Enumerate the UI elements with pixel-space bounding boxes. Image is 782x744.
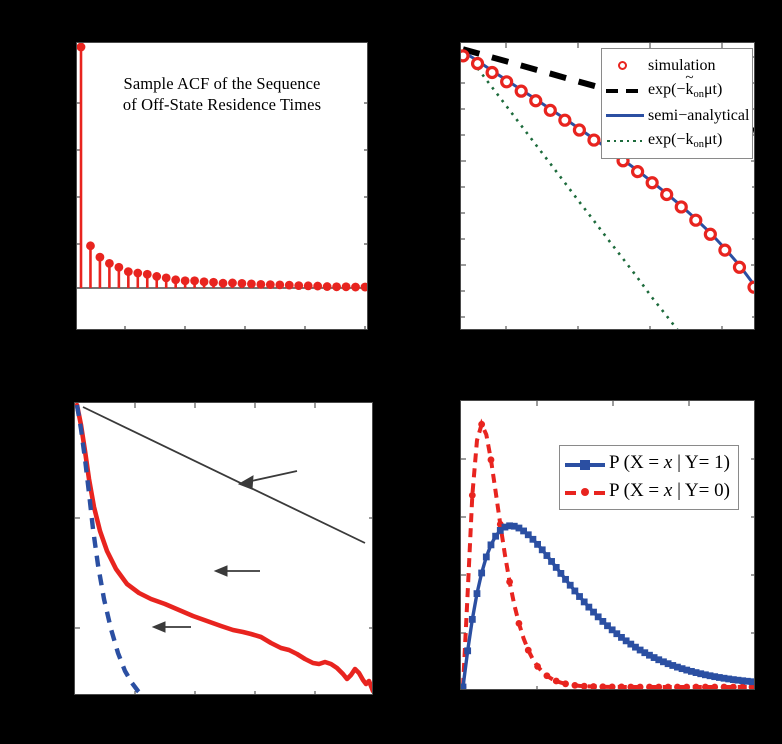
legend-label-simulation: simulation <box>648 57 716 75</box>
legend-item-simulation[interactable]: simulation <box>605 53 749 78</box>
panel-pmf: P (X = x | Y= 1) P (X = x | Y= 0) <box>460 400 755 690</box>
legend-label-exp-kon: exp(−konμt) <box>648 131 722 150</box>
acf-title-line2: of Off-State Residence Times <box>77 94 367 115</box>
survival-curve-heavy-tail <box>77 405 373 691</box>
arrow-to-straight-line <box>239 471 297 489</box>
survival-reference-line <box>83 407 365 543</box>
panel-decay: simulation exp(−~konμt) semi−analytical <box>460 42 755 330</box>
panel-acf: Sample ACF of the Sequence of Off-State … <box>76 42 368 330</box>
legend-label-pmf-y0: P (X = x | Y= 0) <box>609 480 730 502</box>
survival-plot-svg <box>75 403 373 695</box>
legend-label-pmf-y1: P (X = x | Y= 1) <box>609 452 730 474</box>
legend-item-exp-ktilde-on[interactable]: exp(−~konμt) <box>605 78 749 103</box>
legend-label-semi-analytical: semi−analytical <box>648 107 749 125</box>
pmf-markers-y1 <box>460 522 755 690</box>
legend-item-semi-analytical[interactable]: semi−analytical <box>605 103 749 128</box>
red-dot-dash-line-icon <box>564 481 606 501</box>
dashed-line-icon <box>605 81 645 101</box>
arrow-to-blue-dashed-curve <box>153 622 191 632</box>
legend-pmf: P (X = x | Y= 1) P (X = x | Y= 0) <box>559 445 739 510</box>
acf-title-line1: Sample ACF of the Sequence <box>77 73 367 94</box>
pmf-curve-y1 <box>463 526 752 687</box>
figure-canvas: Sample ACF of the Sequence of Off-State … <box>0 0 782 744</box>
open-circle-marker-icon <box>605 56 645 76</box>
dotted-line-icon <box>605 131 645 151</box>
blue-square-line-icon <box>564 453 606 473</box>
legend-item-exp-kon[interactable]: exp(−konμt) <box>605 128 749 153</box>
arrow-to-red-curve <box>215 566 260 576</box>
panel-survival <box>74 402 373 695</box>
legend-item-pmf-y0[interactable]: P (X = x | Y= 0) <box>564 477 734 505</box>
legend-label-exp-ktilde-on: exp(−~konμt) <box>648 81 722 100</box>
legend-decay: simulation exp(−~konμt) semi−analytical <box>601 48 753 159</box>
acf-title: Sample ACF of the Sequence of Off-State … <box>77 73 367 115</box>
acf-ticks <box>77 103 368 330</box>
legend-item-pmf-y1[interactable]: P (X = x | Y= 1) <box>564 449 734 477</box>
solid-line-icon <box>605 106 645 126</box>
